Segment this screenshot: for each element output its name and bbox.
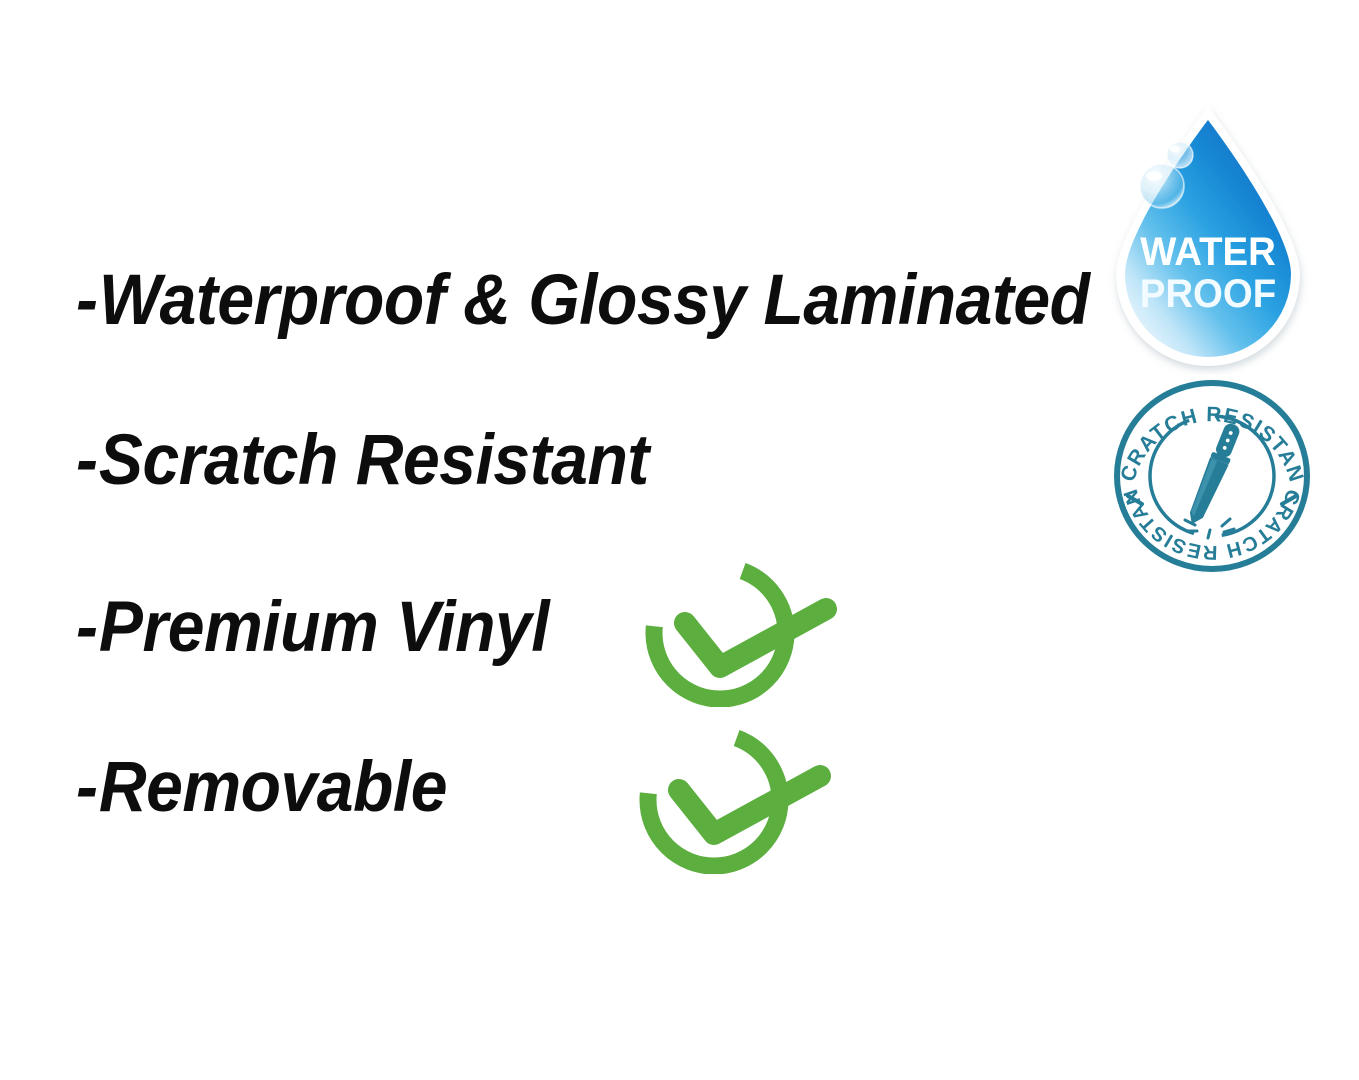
check-circle-icon-1 xyxy=(638,555,838,707)
feature-label: Scratch Resistant xyxy=(99,421,649,500)
waterproof-line1: WATER xyxy=(1140,230,1276,274)
feature-label: Removable xyxy=(99,748,447,827)
scratch-resistant-badge: SCRATCH RESISTANT SCRATCH RESISTANT xyxy=(1112,378,1312,574)
feature-bullet-dash: - xyxy=(76,748,99,827)
feature-item-premium-vinyl: -Premium Vinyl xyxy=(76,592,549,663)
check-circle-icon-2 xyxy=(634,719,834,874)
feature-list-graphic: -Waterproof & Glossy Laminated -Scratch … xyxy=(0,0,1359,1080)
knife-icon xyxy=(1184,421,1243,529)
feature-bullet-dash: - xyxy=(76,588,99,667)
feature-label: Premium Vinyl xyxy=(99,588,549,667)
feature-bullet-dash: - xyxy=(76,421,99,500)
feature-bullet-dash: - xyxy=(76,261,99,340)
feature-item-removable: -Removable xyxy=(76,752,447,823)
feature-item-waterproof-glossy-laminated: -Waterproof & Glossy Laminated xyxy=(76,265,1090,336)
waterproof-badge: WATER PROOF xyxy=(1104,100,1312,375)
feature-label: Waterproof & Glossy Laminated xyxy=(99,261,1090,340)
waterproof-line2: PROOF xyxy=(1140,272,1276,316)
feature-item-scratch-resistant: -Scratch Resistant xyxy=(76,425,649,496)
